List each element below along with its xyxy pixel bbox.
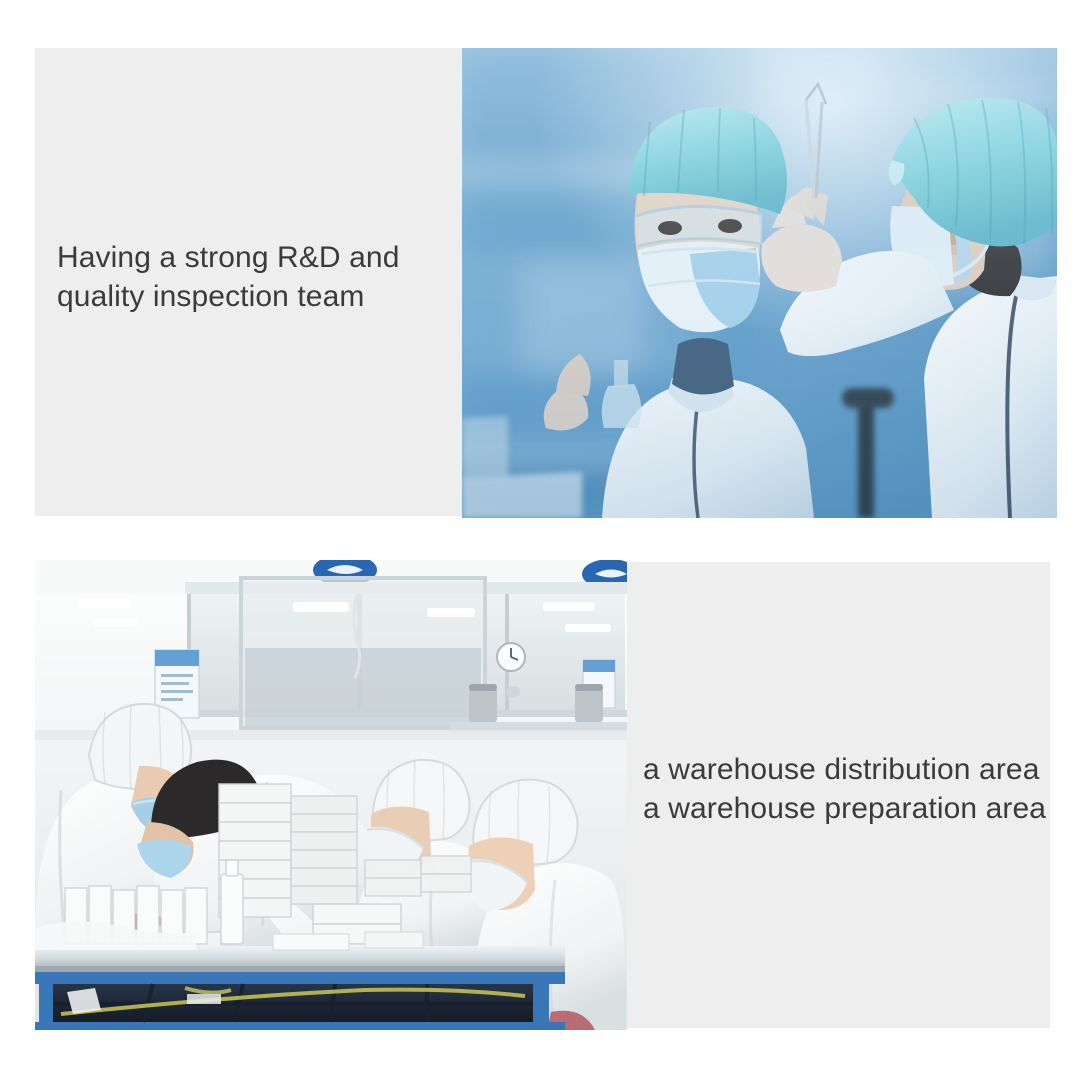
lab-inspection-photo	[462, 48, 1057, 518]
warehouse-packing-photo	[35, 560, 627, 1030]
top-caption-line-2: quality inspection team	[57, 277, 457, 316]
section-top: Having a strong R&D and quality inspecti…	[35, 48, 1057, 518]
lab-inspection-photo-graphic	[462, 48, 1057, 518]
top-caption-line-1: Having a strong R&D and	[57, 238, 457, 277]
top-caption: Having a strong R&D and quality inspecti…	[57, 238, 457, 316]
warehouse-packing-photo-graphic	[35, 560, 627, 1030]
bottom-caption-line-1: a warehouse distribution area	[643, 750, 1053, 789]
bottom-caption: a warehouse distribution area a warehous…	[643, 750, 1053, 828]
section-bottom: a warehouse distribution area a warehous…	[35, 560, 1050, 1030]
page-root: Having a strong R&D and quality inspecti…	[0, 0, 1080, 1080]
bottom-caption-line-2: a warehouse preparation area	[643, 789, 1053, 828]
